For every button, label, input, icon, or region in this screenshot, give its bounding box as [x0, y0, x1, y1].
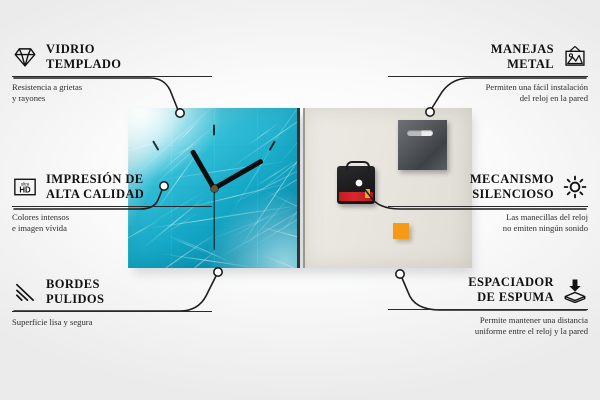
- feature-header: VIDRIO TEMPLADO: [12, 42, 212, 72]
- feature-divider: [388, 76, 588, 77]
- feature-title-line2: TEMPLADO: [46, 57, 121, 72]
- feature-title-line2: PULIDOS: [46, 292, 104, 307]
- feature-title-line1: VIDRIO: [46, 42, 121, 57]
- feature-description: Resistencia a grietas y rayones: [12, 82, 212, 105]
- feature-mecanismo-silencioso: MECANISMO SILENCIOSO Las manecillas del …: [388, 172, 588, 235]
- feature-desc-line2: y rayones: [12, 93, 212, 105]
- feature-description: Las manecillas del reloj no emiten ningú…: [388, 212, 588, 235]
- feature-manejas-metal: MANEJAS METAL Permiten una fácil instala…: [388, 42, 588, 105]
- feature-desc-line1: Resistencia a grietas: [12, 82, 212, 94]
- clock-mechanism-box: [337, 166, 375, 204]
- feature-header: ultra HD IMPRESIÓN DE ALTA CALIDAD: [12, 172, 212, 202]
- feature-desc-line1: Superficie lisa y segura: [12, 317, 212, 329]
- polished-edges-icon: [12, 279, 38, 305]
- feature-title-line2: SILENCIOSO: [470, 187, 554, 202]
- feature-desc-line1: Permite mantener una distancia: [388, 315, 588, 327]
- feature-espaciador-espuma: ESPACIADOR DE ESPUMA Permite mantener un…: [388, 275, 588, 338]
- metal-hanger-plate: [398, 120, 447, 170]
- feature-description: Permiten una fácil instalación del reloj…: [388, 82, 588, 105]
- feature-title: MANEJAS METAL: [491, 42, 554, 72]
- feature-impresion-alta-calidad: ultra HD IMPRESIÓN DE ALTA CALIDAD Color…: [12, 172, 212, 235]
- feature-title-line2: METAL: [491, 57, 554, 72]
- feature-title-line1: MANEJAS: [491, 42, 554, 57]
- feature-title-line2: ALTA CALIDAD: [46, 187, 144, 202]
- feature-title-line1: IMPRESIÓN DE: [46, 172, 144, 187]
- feature-title-line2: DE ESPUMA: [468, 290, 554, 305]
- feature-description: Permite mantener una distancia uniforme …: [388, 315, 588, 338]
- feature-desc-line1: Permiten una fácil instalación: [388, 82, 588, 94]
- feature-title-line1: BORDES: [46, 277, 104, 292]
- feature-divider: [12, 311, 212, 312]
- feature-desc-line1: Las manecillas del reloj: [388, 212, 588, 224]
- feature-desc-line1: Colores intensos: [12, 212, 212, 224]
- feature-description: Colores intensos e imagen vívida: [12, 212, 212, 235]
- feature-header: BORDES PULIDOS: [12, 277, 212, 307]
- svg-text:HD: HD: [19, 185, 31, 194]
- feature-desc-line2: e imagen vívida: [12, 223, 212, 235]
- ultra-hd-icon: ultra HD: [12, 174, 38, 200]
- feature-divider: [388, 309, 588, 310]
- feature-desc-line2: del reloj en la pared: [388, 93, 588, 105]
- feature-header: ESPACIADOR DE ESPUMA: [388, 275, 588, 305]
- feature-title: ESPACIADOR DE ESPUMA: [468, 275, 554, 305]
- diamond-icon: [12, 44, 38, 70]
- feature-divider: [12, 76, 212, 77]
- foam-spacer-icon: [562, 277, 588, 303]
- feature-desc-line2: no emiten ningún sonido: [388, 223, 588, 235]
- feature-title-line1: MECANISMO: [470, 172, 554, 187]
- feature-header: MECANISMO SILENCIOSO: [388, 172, 588, 202]
- feature-title: IMPRESIÓN DE ALTA CALIDAD: [46, 172, 144, 202]
- feature-title: BORDES PULIDOS: [46, 277, 104, 307]
- feature-bordes-pulidos: BORDES PULIDOS Superficie lisa y segura: [12, 277, 212, 328]
- feature-description: Superficie lisa y segura: [12, 317, 212, 329]
- gear-icon: [562, 174, 588, 200]
- feature-desc-line2: uniforme entre el reloj y la pared: [388, 326, 588, 338]
- feature-title: VIDRIO TEMPLADO: [46, 42, 121, 72]
- feature-header: MANEJAS METAL: [388, 42, 588, 72]
- picture-hanger-icon: [562, 44, 588, 70]
- feature-title: MECANISMO SILENCIOSO: [470, 172, 554, 202]
- battery-compartment: [339, 192, 373, 201]
- feature-divider: [388, 206, 588, 207]
- feature-divider: [12, 206, 212, 207]
- feature-vidrio-templado: VIDRIO TEMPLADO Resistencia a grietas y …: [12, 42, 212, 105]
- feature-title-line1: ESPACIADOR: [468, 275, 554, 290]
- infographic-stage: VIDRIO TEMPLADO Resistencia a grietas y …: [0, 0, 600, 400]
